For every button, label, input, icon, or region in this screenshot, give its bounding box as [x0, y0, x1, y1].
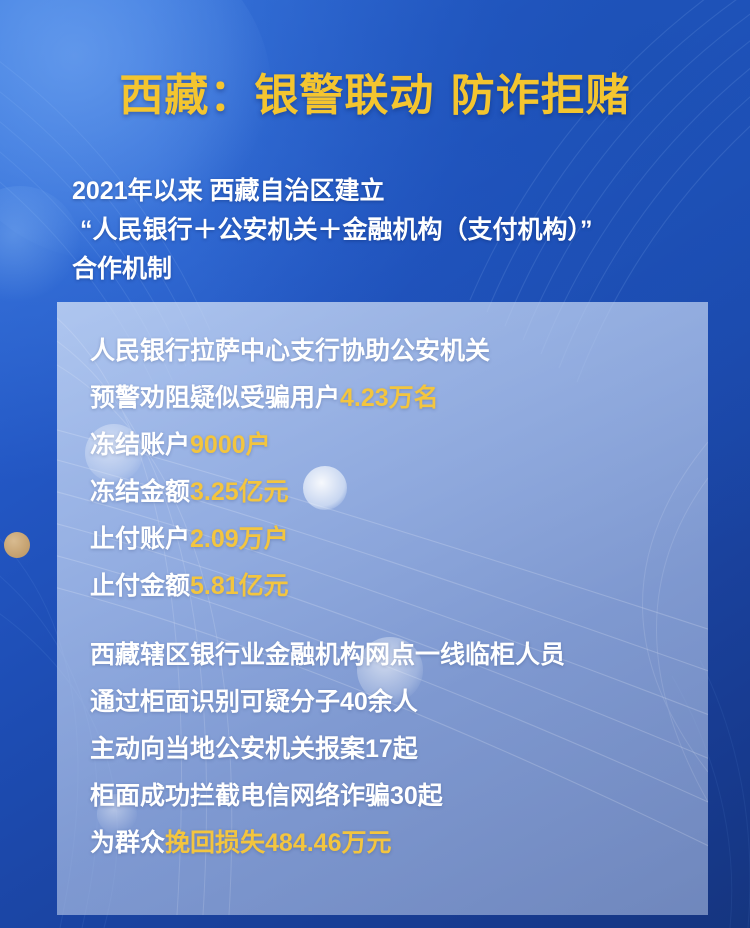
stats-line-value: 挽回损失484.46万元	[165, 829, 391, 857]
stats-block-one: 人民银行拉萨中心支行协助公安机关 预警劝阻疑似受骗用户4.23万名 冻结账户90…	[90, 328, 690, 610]
stats-line-value: 2.09万户	[190, 525, 289, 553]
stats-line-text: 预警劝阻疑似受骗用户	[90, 384, 340, 412]
stats-line: 西藏辖区银行业金融机构网点一线临柜人员	[90, 632, 690, 679]
statistics-card: 人民银行拉萨中心支行协助公安机关 预警劝阻疑似受骗用户4.23万名 冻结账户90…	[57, 302, 708, 915]
decorative-gold-dot	[4, 532, 30, 558]
stats-line: 主动向当地公安机关报案17起	[90, 726, 690, 773]
stats-line: 冻结金额3.25亿元	[90, 469, 690, 516]
stats-block-two: 西藏辖区银行业金融机构网点一线临柜人员 通过柜面识别可疑分子40余人 主动向当地…	[90, 632, 690, 867]
stats-line-text: 人民银行拉萨中心支行协助公安机关	[90, 337, 490, 365]
subtitle-line-3: 合作机制	[72, 250, 712, 289]
poster-canvas: 西藏：银警联动 防诈拒赌 2021年以来 西藏自治区建立 “人民银行＋公安机关＋…	[0, 0, 750, 928]
stats-line-text: 冻结账户	[90, 431, 190, 459]
stats-line-text: 西藏辖区银行业金融机构网点一线临柜人员	[90, 641, 565, 669]
stats-line-text: 止付账户	[90, 525, 190, 553]
stats-line-text: 通过柜面识别可疑分子40余人	[90, 688, 418, 716]
stats-line: 通过柜面识别可疑分子40余人	[90, 679, 690, 726]
stats-line-text: 冻结金额	[90, 478, 190, 506]
stats-line-value: 9000户	[190, 431, 271, 459]
stats-line: 人民银行拉萨中心支行协助公安机关	[90, 328, 690, 375]
stats-line-text: 柜面成功拦截电信网络诈骗30起	[90, 782, 443, 810]
subtitle-line-1: 2021年以来 西藏自治区建立	[72, 172, 712, 211]
stats-line-value: 3.25亿元	[190, 478, 289, 506]
stats-line: 为群众挽回损失484.46万元	[90, 820, 690, 867]
stats-line: 预警劝阻疑似受骗用户4.23万名	[90, 375, 690, 422]
stats-line: 柜面成功拦截电信网络诈骗30起	[90, 773, 690, 820]
stats-line-text: 主动向当地公安机关报案17起	[90, 735, 418, 763]
page-title: 西藏：银警联动 防诈拒赌	[0, 68, 750, 124]
stats-line-value: 5.81亿元	[190, 572, 289, 600]
stats-line: 止付金额5.81亿元	[90, 563, 690, 610]
subtitle-block: 2021年以来 西藏自治区建立 “人民银行＋公安机关＋金融机构（支付机构）” 合…	[72, 172, 712, 289]
stats-line-text: 止付金额	[90, 572, 190, 600]
stats-line-value: 4.23万名	[340, 384, 439, 412]
subtitle-line-2: “人民银行＋公安机关＋金融机构（支付机构）”	[72, 211, 712, 250]
stats-line: 冻结账户9000户	[90, 422, 690, 469]
stats-line-text: 为群众	[90, 829, 165, 857]
stats-line: 止付账户2.09万户	[90, 516, 690, 563]
decorative-glow-circle-small	[0, 186, 80, 306]
